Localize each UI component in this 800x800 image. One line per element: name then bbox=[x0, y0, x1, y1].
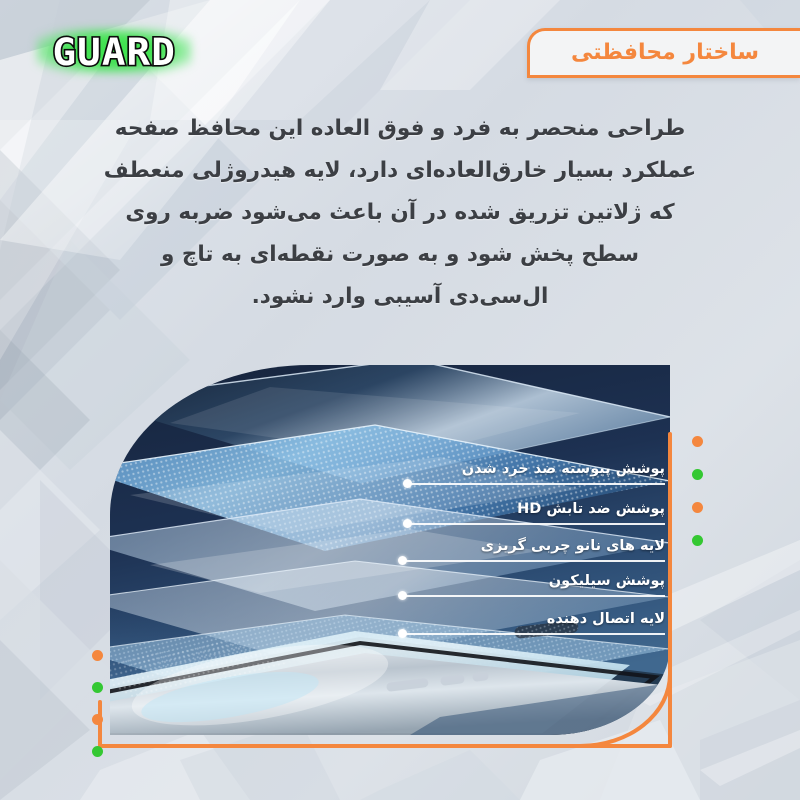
paragraph-line: عملکرد بسیار خارق‌العاده‌ای دارد، لایه ه… bbox=[72, 150, 728, 192]
description-paragraph: طراحی منحصر به فرد و فوق العاده این محاف… bbox=[72, 108, 728, 318]
decor-dot-green bbox=[692, 535, 703, 546]
section-title-text: ساختار محافظتی bbox=[571, 40, 759, 67]
paragraph-line: سطح پخش شود و به صورت نقطه‌ای به تاچ و bbox=[72, 234, 728, 276]
decor-dot-green bbox=[692, 469, 703, 480]
poster-canvas: GUARD ساختار محافظتی طراحی منحصر به فرد … bbox=[0, 0, 800, 800]
right-dot-column bbox=[692, 436, 712, 586]
decor-dot-orange bbox=[692, 502, 703, 513]
decor-dot-orange bbox=[92, 650, 103, 661]
orange-frame-vertical bbox=[668, 432, 672, 748]
decor-dot-orange bbox=[692, 436, 703, 447]
paragraph-line: که ژلاتین تزریق شده در آن باعث می‌شود ضر… bbox=[72, 192, 728, 234]
brand-logo: GUARD bbox=[24, 22, 204, 82]
decor-dot-green bbox=[92, 746, 103, 757]
paragraph-line: طراحی منحصر به فرد و فوق العاده این محاف… bbox=[72, 108, 728, 150]
decor-dot-green bbox=[92, 682, 103, 693]
paragraph-line: ال‌سی‌دی آسیبی وارد نشود. bbox=[72, 276, 728, 318]
orange-frame-horizontal bbox=[100, 744, 672, 748]
left-dot-column bbox=[92, 650, 112, 800]
section-title-badge: ساختار محافظتی bbox=[527, 28, 800, 78]
logo-text: GUARD bbox=[52, 34, 175, 71]
decor-dot-orange bbox=[92, 714, 103, 725]
